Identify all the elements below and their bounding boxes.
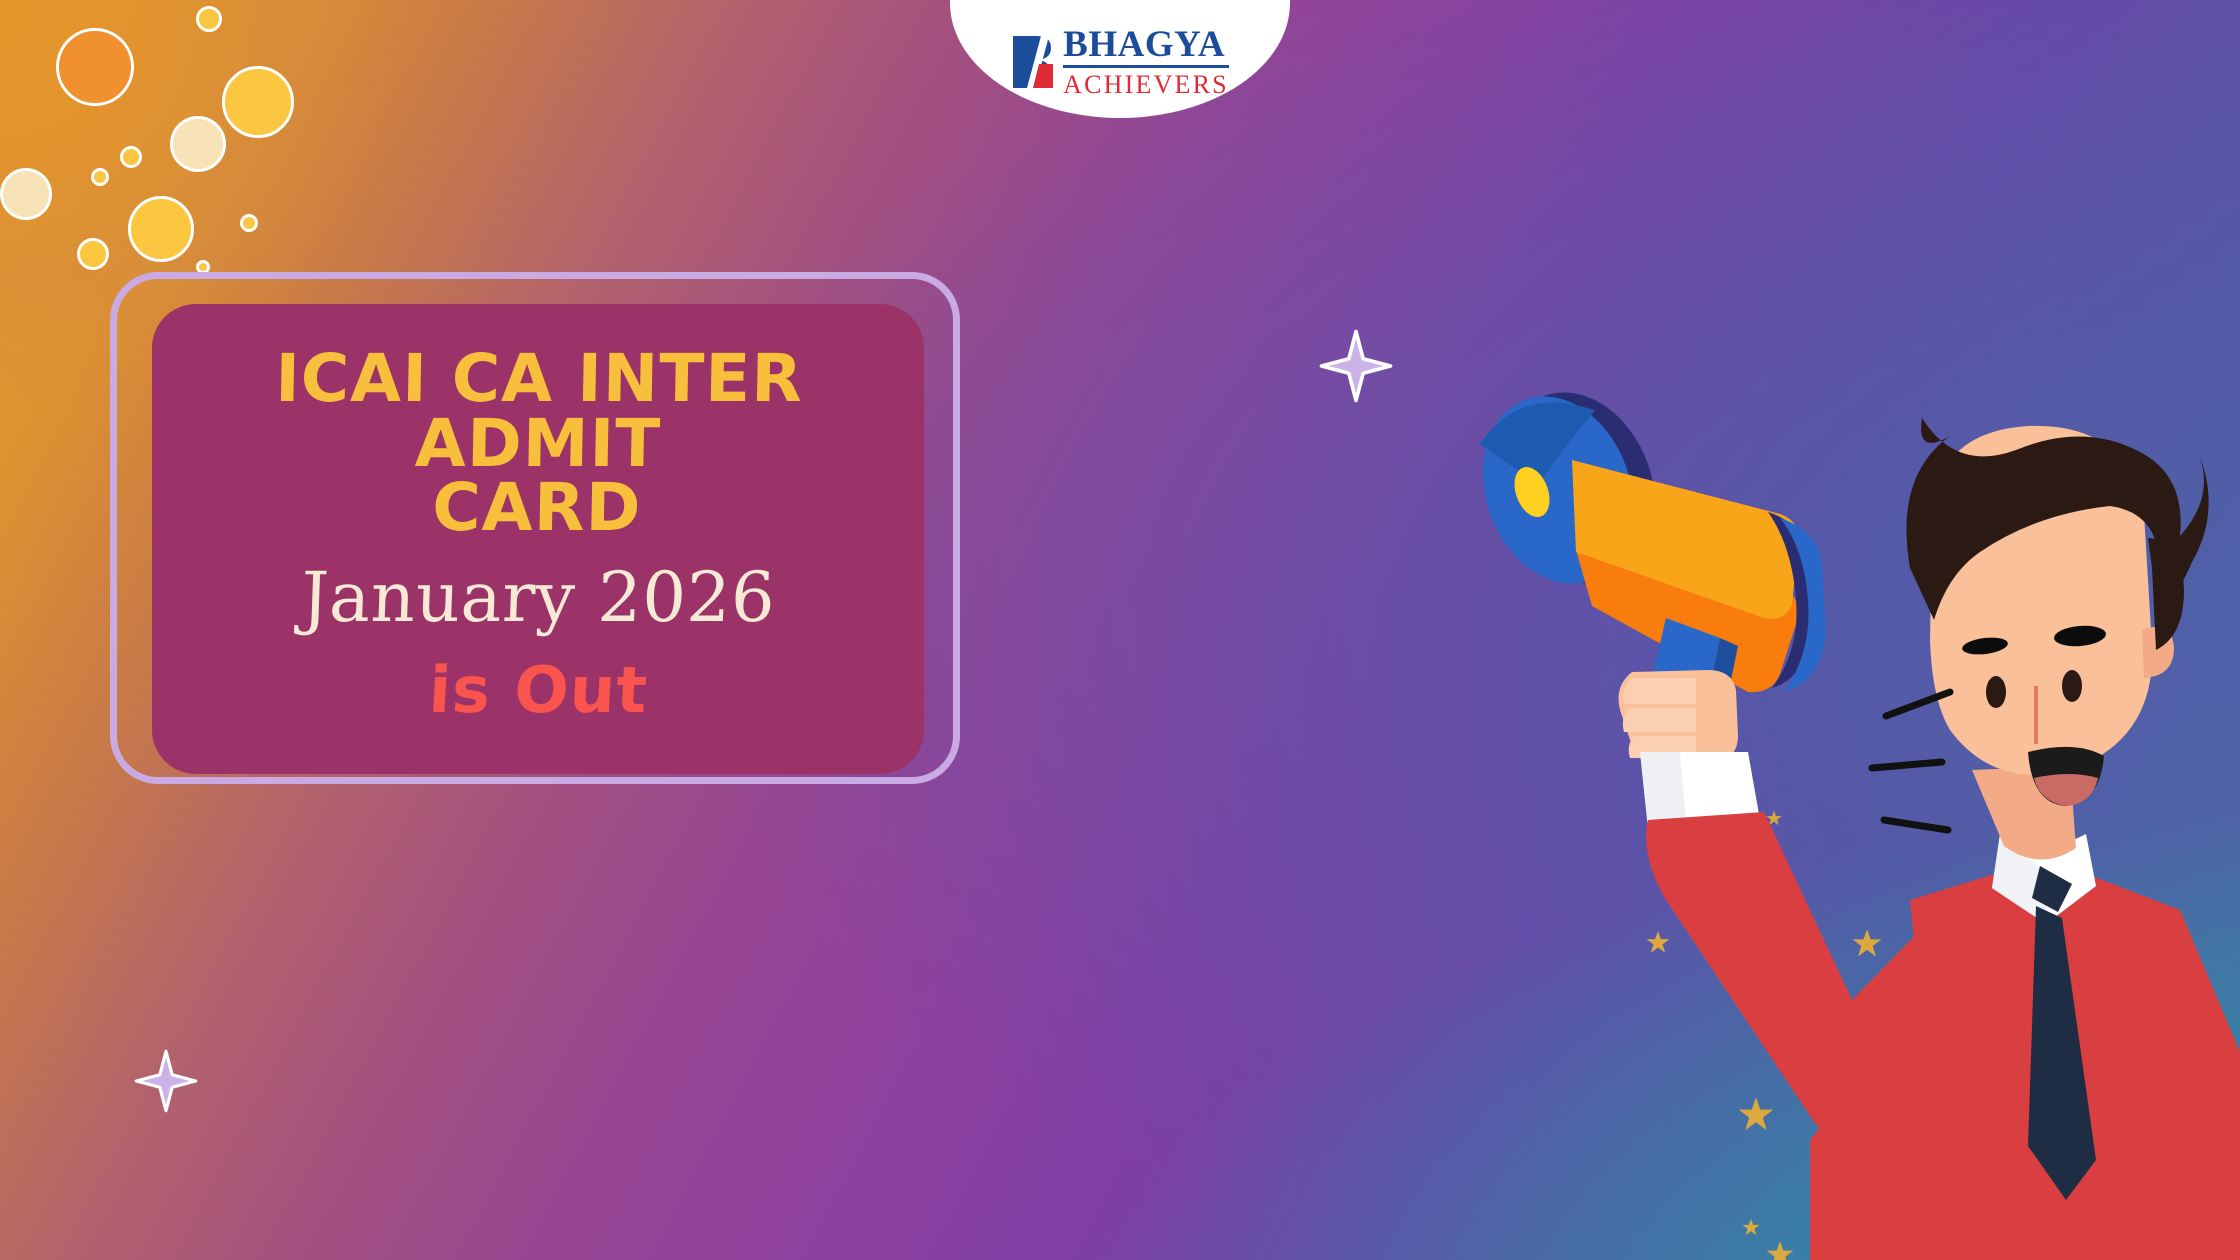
- brand-name-secondary: ACHIEVERS: [1063, 68, 1229, 98]
- sparkle-star-icon: [1320, 330, 1392, 402]
- decorative-bubble: [128, 196, 194, 262]
- page-title: ICAI CA INTER ADMIT CARD: [176, 347, 899, 541]
- headline-line-1: ICAI CA INTER ADMIT: [275, 340, 804, 482]
- decorative-bubble: [196, 6, 222, 32]
- bhagya-b-monogram-icon: [1011, 34, 1057, 90]
- decorative-bubble: [170, 116, 226, 172]
- headline-card-content: ICAI CA INTER ADMIT CARD January 2026 is…: [152, 304, 924, 774]
- decorative-bubble: [0, 168, 52, 220]
- decorative-bubble: [222, 66, 294, 138]
- promo-banner: ICAI CA INTER ADMIT CARD January 2026 is…: [0, 0, 2240, 1260]
- decorative-bubble: [240, 214, 258, 232]
- decorative-bubble: [91, 168, 109, 186]
- decorative-bubble: [56, 28, 134, 106]
- sparkle-star-icon: [135, 1050, 197, 1112]
- brand-name-primary: BHAGYA: [1063, 26, 1229, 68]
- headline-line-2: CARD: [176, 477, 897, 542]
- status-badge: is Out: [427, 659, 649, 723]
- decorative-bubble: [120, 146, 142, 168]
- exam-session-label: January 2026: [300, 564, 777, 633]
- decorative-bubble: [77, 238, 109, 270]
- man-with-megaphone-illustration: [1480, 300, 2240, 1260]
